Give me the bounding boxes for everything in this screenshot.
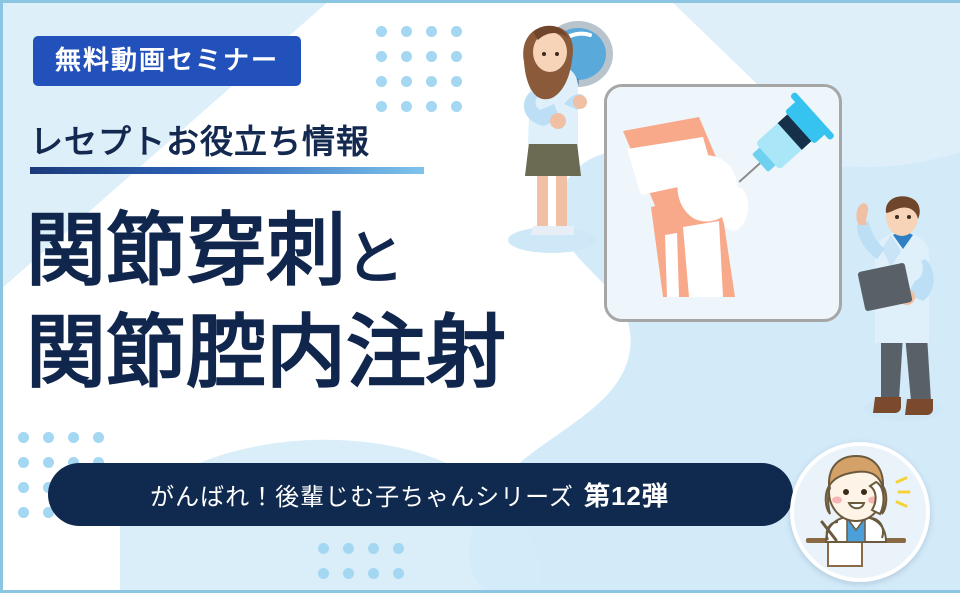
page-title: 関節穿刺と 関節腔内注射	[26, 200, 506, 405]
page-title-line-1-main: 関節穿刺	[26, 206, 346, 295]
banner-content: 無料動画セミナー レセプトお役立ち情報 関節穿刺と 関節腔内注射 がんばれ！後輩…	[0, 0, 960, 593]
page-title-line-1-suffix: と	[346, 226, 404, 291]
series-volume: 第12弾	[584, 481, 669, 511]
jimuko-character-illustration	[794, 446, 918, 570]
series-bar: がんばれ！後輩じむ子ちゃんシリーズ第12弾	[48, 463, 793, 526]
subtitle-underline	[30, 167, 424, 174]
edge-line-top	[0, 0, 960, 3]
page-title-line-2: 関節腔内注射	[26, 302, 506, 404]
edge-line-left	[0, 0, 3, 593]
seminar-banner: 無料動画セミナー レセプトお役立ち情報 関節穿刺と 関節腔内注射 がんばれ！後輩…	[0, 0, 960, 593]
series-name: がんばれ！後輩じむ子ちゃんシリーズ	[150, 484, 574, 511]
subtitle-block: レセプトお役立ち情報	[30, 123, 424, 174]
free-video-seminar-badge: 無料動画セミナー	[33, 36, 301, 86]
series-label: がんばれ！後輩じむ子ちゃんシリーズ第12弾	[150, 476, 669, 513]
jimuko-character-badge	[790, 442, 930, 582]
page-title-line-1: 関節穿刺と	[26, 200, 506, 302]
subtitle-text: レセプトお役立ち情報	[30, 123, 424, 161]
